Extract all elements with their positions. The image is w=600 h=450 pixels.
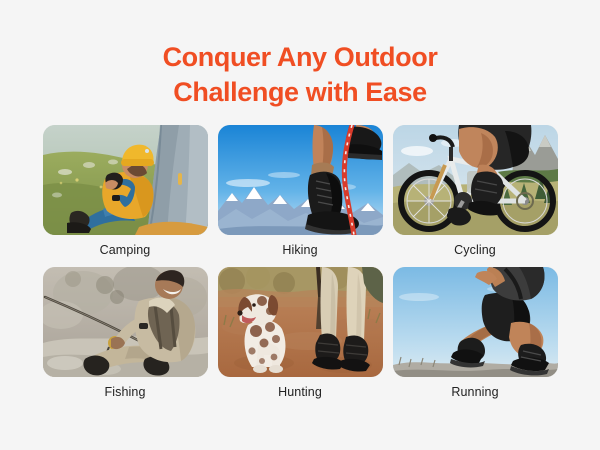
camping-photo[interactable]	[43, 125, 208, 235]
category-label-fishing: Fishing	[43, 386, 208, 399]
category-card-camping[interactable]: Camping	[43, 125, 208, 257]
page-title: Conquer Any Outdoor Challenge with Ease	[0, 0, 600, 109]
category-label-hiking: Hiking	[218, 244, 383, 257]
page-title-line-1: Conquer Any Outdoor	[0, 40, 600, 75]
category-grid: Camping	[52, 125, 548, 398]
running-photo[interactable]	[393, 267, 558, 377]
category-card-hunting[interactable]: Hunting	[218, 267, 383, 399]
category-card-hiking[interactable]: Hiking	[218, 125, 383, 257]
fishing-photo[interactable]	[43, 267, 208, 377]
hiking-photo[interactable]	[218, 125, 383, 235]
category-label-running: Running	[393, 386, 558, 399]
category-card-fishing[interactable]: Fishing	[43, 267, 208, 399]
category-card-cycling[interactable]: Cycling	[393, 125, 558, 257]
hunting-photo[interactable]	[218, 267, 383, 377]
category-card-running[interactable]: Running	[393, 267, 558, 399]
category-label-hunting: Hunting	[218, 386, 383, 399]
promo-banner: Conquer Any Outdoor Challenge with Ease	[0, 0, 600, 450]
category-label-camping: Camping	[43, 244, 208, 257]
page-title-line-2: Challenge with Ease	[0, 75, 600, 110]
category-label-cycling: Cycling	[393, 244, 558, 257]
cycling-photo[interactable]	[393, 125, 558, 235]
